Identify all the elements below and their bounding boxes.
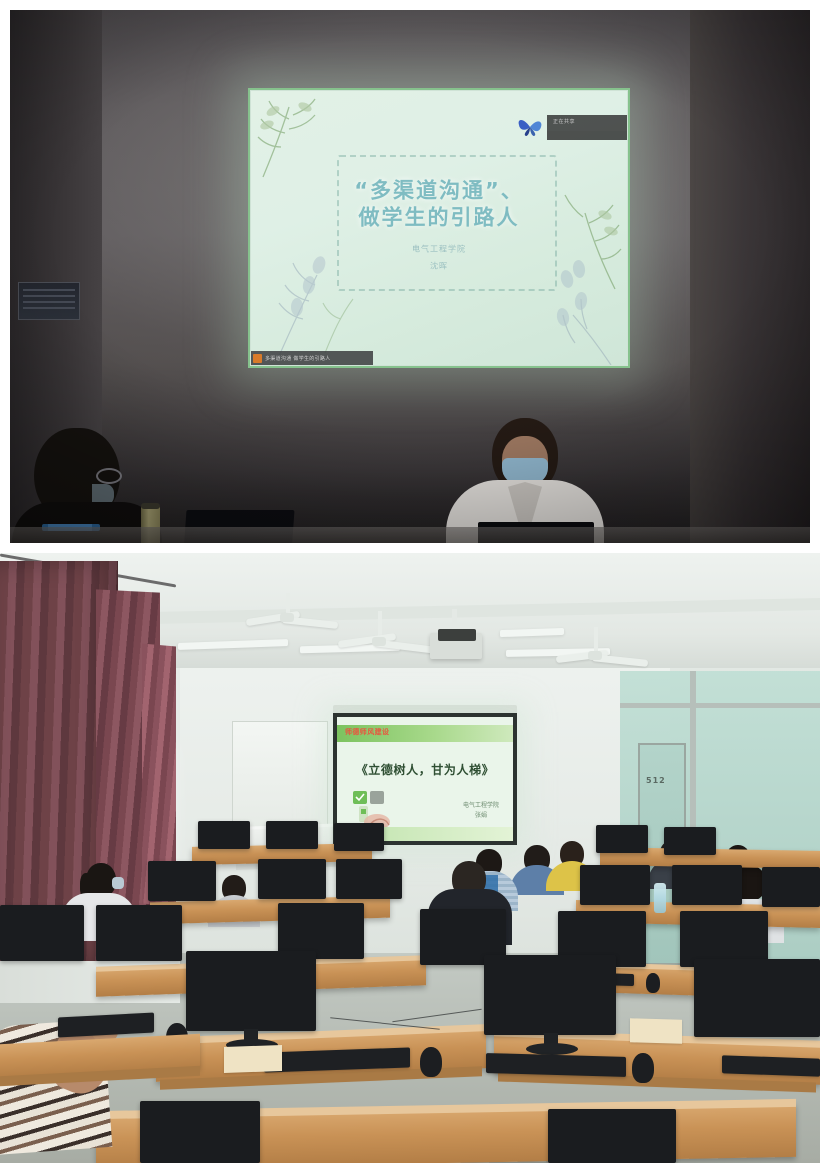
photo-collage-page: “多渠道沟通”、 做学生的引路人 电气工程学院 沈晖 正在共享 多渠道沟通 做学… [0,0,820,1163]
paper-sheet-2 [630,1018,682,1043]
monitor-r4-2 [266,821,318,849]
room-number-label: 512 [646,776,666,785]
slide-org-block: 电气工程学院 张娟 [463,801,499,821]
monitor-r4-4 [596,825,648,853]
monitor-r4-1 [198,821,250,849]
keyboard-r1-3[interactable] [722,1055,820,1076]
monitor-r1-1 [186,951,316,1031]
slide-org-line1: 电气工程学院 [463,801,499,811]
monitor-r3-4 [580,865,650,905]
mouse-r2-4[interactable] [646,973,660,993]
slide-header-banner: 师德师风建设 [337,725,513,742]
monitor-r4-5 [664,827,716,855]
ceiling-fan-1-hub [372,637,386,646]
ceiling-fan-1-rod [378,611,382,637]
photo-top-dark-meeting-room: “多渠道沟通”、 做学生的引路人 电气工程学院 沈晖 正在共享 多渠道沟通 做学… [10,10,810,543]
monitor-r1-2 [484,955,616,1035]
paper-sheet-1 [224,1045,282,1073]
whiteboard [232,721,328,829]
keyboard-r1-2[interactable] [486,1053,626,1077]
monitor-r1-3 [694,959,820,1037]
ceiling-fan-3-hub [280,613,294,622]
photo-separator [0,543,820,553]
mouse-r1-2[interactable] [632,1053,654,1083]
monitor-r3-6 [762,867,820,907]
ceiling-fan-2-rod [594,627,598,653]
monitor-r4-3 [334,823,384,851]
slide-header-banner-text: 师德师风建设 [345,727,389,737]
monitor-r0-1 [140,1101,260,1163]
attendee-ponytail-mask [112,877,124,889]
slide-main-title: 《立德树人，甘为人梯》 [337,761,513,778]
glass-mullion-2 [620,703,820,708]
water-bottle [654,883,666,913]
mouse-r1-1[interactable] [420,1047,442,1077]
monitor-r3-2 [258,859,326,899]
ceiling-fan-2-hub [588,651,602,660]
photo-bottom-computer-classroom: 师德师风建设 《立德树人，甘为人梯》 电气工程学院 张娟 [0,553,820,1163]
monitor-r2-1 [96,905,182,961]
monitor-r3-3 [336,859,402,899]
projector-lens [438,629,476,641]
slide-org-line2: 张娟 [463,811,499,821]
photo-vignette [10,10,810,543]
monitor-r3-5 [672,865,742,905]
monitor-r2-0 [0,905,84,961]
monitor-r0-2 [548,1109,676,1163]
monitor-r3-1 [148,861,216,901]
monitor-r1-2-base [526,1043,578,1055]
